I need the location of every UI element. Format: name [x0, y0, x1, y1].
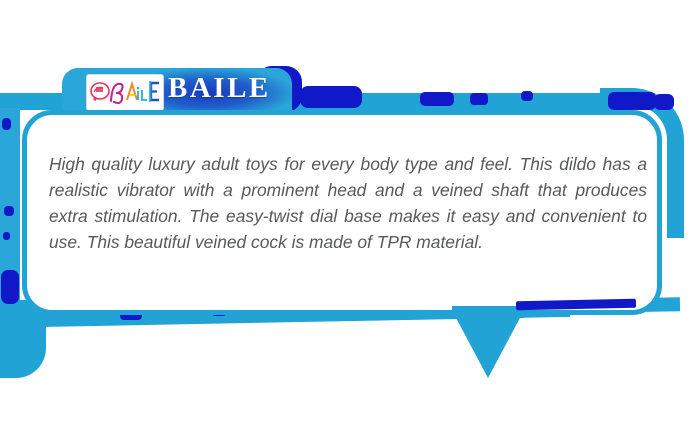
paint-blotch: [654, 94, 674, 110]
left-paint-strip: [0, 108, 20, 313]
speech-bubble-banner: BAILE High quality luxury adult toys for…: [0, 0, 700, 437]
paint-blotch: [2, 118, 11, 130]
paint-blotch: [420, 92, 454, 106]
paint-blotch: [300, 86, 362, 108]
paint-blotch: [521, 91, 533, 101]
product-description-text: High quality luxury adult toys for every…: [49, 151, 647, 255]
paint-blotch: [4, 206, 14, 216]
speech-bubble: High quality luxury adult toys for every…: [22, 110, 662, 315]
brand-name-text: BAILE: [168, 72, 271, 105]
paint-blotch: [608, 92, 656, 110]
paint-blotch: [470, 93, 488, 105]
baile-logo-badge: [86, 74, 164, 111]
bubble-tail-pointer: [455, 316, 521, 378]
paint-blotch: [1, 270, 19, 304]
paint-blotch: [3, 232, 10, 240]
